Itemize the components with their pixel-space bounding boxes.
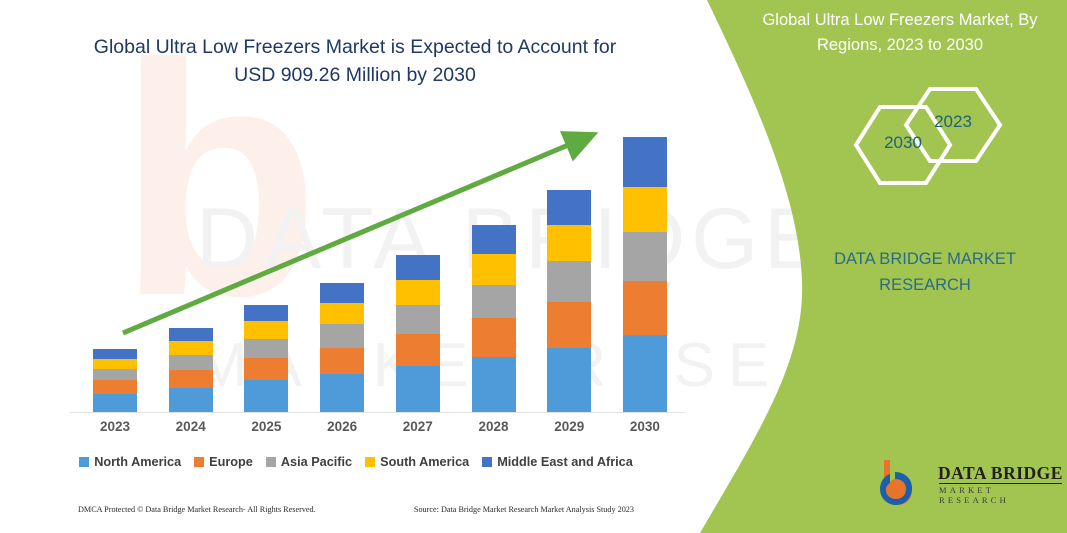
bar-segment [169, 370, 213, 387]
legend-swatch [194, 457, 204, 467]
panel-brand: DATA BRIDGE MARKET RESEARCH [800, 246, 1050, 298]
bar-segment [244, 305, 288, 321]
chart-area: Global Ultra Low Freezers Market is Expe… [0, 0, 712, 533]
hexagon-group: 2030 2023 [820, 85, 1060, 215]
footer-right: Source: Data Bridge Market Research Mark… [414, 505, 634, 514]
legend-swatch [79, 457, 89, 467]
hexagons-svg [820, 85, 1060, 215]
bar-segment [244, 380, 288, 412]
bar-segment [396, 255, 440, 279]
bar-segment [244, 339, 288, 358]
bar-column [396, 255, 440, 412]
x-axis-label: 2030 [623, 419, 667, 434]
legend-swatch [482, 457, 492, 467]
legend-label: South America [380, 455, 469, 469]
x-axis-label: 2029 [547, 419, 591, 434]
bar-segment [547, 225, 591, 262]
panel-title-line1: Global Ultra Low Freezers Market, By [745, 8, 1055, 33]
bar-segment [547, 348, 591, 412]
bar-column [472, 225, 516, 412]
bar-column [547, 190, 591, 412]
chart-title-line2: USD 909.26 Million by 2030 [30, 61, 680, 89]
legend-swatch [266, 457, 276, 467]
legend-label: Middle East and Africa [497, 455, 633, 469]
x-axis-label: 2026 [320, 419, 364, 434]
bar-segment [169, 355, 213, 370]
x-axis-label: 2027 [396, 419, 440, 434]
legend-label: Asia Pacific [281, 455, 352, 469]
bar-segment [93, 394, 137, 412]
chart-title-line1: Global Ultra Low Freezers Market is Expe… [30, 33, 680, 61]
x-axis-label: 2023 [93, 419, 137, 434]
x-axis-line [70, 412, 685, 413]
bar-segment [472, 285, 516, 319]
panel-brand-line2: RESEARCH [800, 272, 1050, 298]
panel-title-line2: Regions, 2023 to 2030 [745, 33, 1055, 58]
bar-segment [623, 281, 667, 335]
panel-title: Global Ultra Low Freezers Market, By Reg… [745, 8, 1055, 58]
bar-segment [93, 380, 137, 393]
bar-segment [169, 388, 213, 412]
data-bridge-logo: DATA BRIDGE MARKET RESEARCH [878, 458, 1067, 510]
bar-segment [320, 348, 364, 374]
bar-segment [396, 334, 440, 367]
bar-segment [396, 305, 440, 334]
bar-segment [472, 254, 516, 285]
bar-segment [244, 358, 288, 380]
bars-container [75, 120, 685, 412]
legend-swatch [365, 457, 375, 467]
legend-item[interactable]: South America [365, 455, 469, 469]
bar-segment [320, 374, 364, 412]
bar-segment [623, 187, 667, 232]
bar-segment [396, 280, 440, 305]
bar-column [320, 283, 364, 412]
logo-title: DATA BRIDGE [938, 463, 1063, 484]
logo-mark-icon [878, 458, 934, 508]
footer: DMCA Protected © Data Bridge Market Rese… [0, 505, 712, 514]
bar-segment [623, 137, 667, 187]
bar-segment [93, 359, 137, 369]
x-axis-label: 2028 [472, 419, 516, 434]
x-axis-labels: 20232024202520262027202820292030 [75, 419, 685, 434]
bar-column [244, 305, 288, 412]
bar-segment [547, 261, 591, 302]
bar-segment [472, 318, 516, 357]
bar-segment [547, 302, 591, 348]
bar-segment [93, 349, 137, 359]
footer-left: DMCA Protected © Data Bridge Market Rese… [78, 505, 316, 514]
bar-segment [320, 324, 364, 347]
bar-column [623, 137, 667, 412]
legend-item[interactable]: Europe [194, 455, 253, 469]
logo-divider [939, 483, 1062, 484]
hexagon-2030-label: 2030 [874, 133, 932, 153]
x-axis-label: 2024 [169, 419, 213, 434]
legend-label: North America [94, 455, 181, 469]
bar-segment [320, 283, 364, 303]
bar-segment [472, 357, 516, 412]
x-axis-label: 2025 [244, 419, 288, 434]
chart-legend: North AmericaEuropeAsia PacificSouth Ame… [0, 455, 712, 469]
logo-subtitle: MARKET RESEARCH [939, 485, 1067, 505]
bar-segment [169, 328, 213, 341]
panel-brand-line1: DATA BRIDGE MARKET [800, 246, 1050, 272]
legend-item[interactable]: Middle East and Africa [482, 455, 633, 469]
legend-label: Europe [209, 455, 253, 469]
hexagon-2023-label: 2023 [924, 112, 982, 132]
legend-item[interactable]: North America [79, 455, 181, 469]
bar-column [93, 349, 137, 412]
bar-segment [396, 366, 440, 412]
legend-item[interactable]: Asia Pacific [266, 455, 352, 469]
bar-segment [244, 321, 288, 338]
chart-title: Global Ultra Low Freezers Market is Expe… [30, 33, 680, 89]
bar-segment [623, 232, 667, 281]
bar-segment [472, 225, 516, 255]
bar-segment [320, 303, 364, 324]
bar-segment [93, 369, 137, 380]
bar-segment [547, 190, 591, 225]
bar-segment [623, 335, 667, 412]
bar-segment [169, 341, 213, 355]
bar-column [169, 328, 213, 413]
